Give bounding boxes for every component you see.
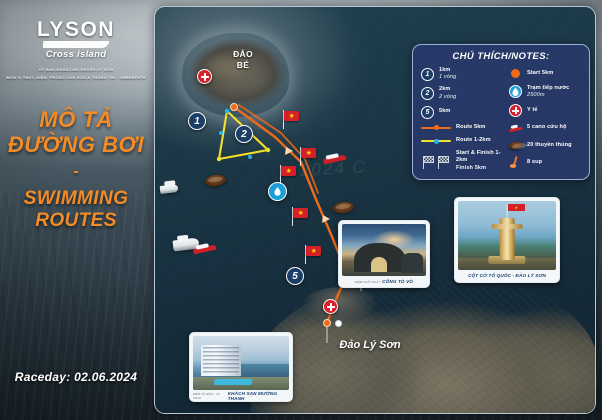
start-5km-dot (230, 103, 238, 111)
medical-cross-icon (327, 303, 335, 311)
medical-cross-icon (201, 73, 209, 81)
legend-left-5-sub: Finish 5km (456, 165, 503, 172)
buoy-icon (248, 155, 252, 159)
buoy-icon (266, 148, 270, 152)
caption-title: CỔNG TÒ VÒ (382, 279, 413, 284)
map-marker-2-label: 2 (241, 129, 247, 140)
marker-5-icon: 5 (421, 106, 434, 119)
photo-caption-khach-san-muong-thanh: ĐIỂM VỀ ĐÍCH - LỄ TRAO KHÁCH SẠN MƯỜNG T… (193, 390, 289, 401)
organizer-line-1: ỦY BAN NHÂN DÂN HUYỆN LÝ SƠN (0, 67, 152, 73)
legend-item-medical: Y tế (509, 104, 581, 117)
course-flag-icon: ★ (283, 110, 300, 129)
left-branding-column: LYSON Cross island ỦY BAN NHÂN DÂN HUYỆN… (0, 0, 152, 420)
buoy-icon (219, 131, 223, 135)
course-flag-icon: ★ (292, 207, 309, 226)
legend-left-2-label: 5km (439, 108, 451, 115)
map-marker-5-label: 5 (292, 271, 298, 282)
photo-cot-co-to-quoc: ★ (458, 201, 556, 270)
buoy-icon (217, 157, 221, 161)
legend-item-rescue-boats: 5 cano cứu hộ (509, 121, 581, 134)
legend-right-4-label: 20 thuyền thúng (527, 142, 572, 149)
photo-card-khach-san-muong-thanh[interactable]: ĐIỂM VỀ ĐÍCH - LỄ TRAO KHÁCH SẠN MƯỜNG T… (189, 332, 293, 402)
legend-right-3-label: 5 cano cứu hộ (527, 124, 567, 131)
legend-right-1-sub: 2500m (527, 92, 569, 99)
legend-left-4-label: Route 1-2km (456, 137, 491, 144)
caption-prefix: ĐIỂM XUẤT PHÁT (355, 280, 380, 284)
finish-marker-dot (335, 320, 342, 327)
legend-item-basket-boats: 20 thuyền thúng (509, 139, 581, 152)
checkered-flag-icon (421, 155, 451, 168)
marker-2-icon: 2 (421, 87, 434, 100)
logo-swoosh-icon (43, 41, 110, 48)
title-divider: - (0, 157, 152, 187)
photo-caption-cot-co-to-quoc: CỘT CỜ TỔ QUỐC - ĐẢO LÝ SƠN (458, 270, 556, 281)
legend-item-5km: 5 5km (421, 106, 503, 119)
route-1-2km-line-icon (421, 137, 451, 146)
map-marker-5[interactable]: 5 (286, 267, 304, 285)
rescue-boat-icon (509, 121, 522, 134)
satellite-map[interactable]: 2024 C ĐẢO BÉ Đảo Lý Sơn (155, 7, 595, 413)
medical-post-ly-son[interactable] (323, 299, 338, 314)
raceday-label: Raceday: 02.06.2024 (0, 370, 152, 384)
water-drop-icon (274, 187, 281, 196)
finish-5km-dot (323, 319, 331, 327)
title-line-2: ĐƯỜNG BƠI (0, 133, 152, 158)
photo-caption-cong-to-vo: ĐIỂM XUẤT PHÁT CỔNG TÒ VÒ (342, 276, 426, 287)
legend-item-start-finish: Start & Finish 1-2km Finish 5km (421, 150, 503, 172)
course-flag-icon: ★ (280, 165, 297, 184)
photo-khach-san-muong-thanh (193, 336, 289, 390)
legend-left-1-label: 2km (439, 86, 451, 92)
caption-title: KHÁCH SẠN MƯỜNG THANH (228, 391, 289, 401)
legend-left-5-label: Start & Finish 1-2km (456, 150, 501, 163)
logo-tagline: Cross island (0, 49, 152, 60)
title-line-4: ROUTES (0, 210, 152, 233)
page-title: MÔ TẢ ĐƯỜNG BƠI - SWIMMING ROUTES (0, 108, 152, 233)
sup-paddle-icon (509, 156, 522, 169)
map-marker-2[interactable]: 2 (235, 125, 253, 143)
start-dot-icon (509, 67, 522, 80)
photo-cong-to-vo (342, 224, 426, 276)
legend-right-0-label: Start 5km (527, 70, 553, 77)
legend-item-start-5km: Start 5km (509, 67, 581, 80)
legend-right-1-label: Trạm tiếp nước (527, 85, 569, 91)
marker-1-icon: 1 (421, 68, 434, 81)
legend-right-2-label: Y tế (527, 107, 538, 114)
organizer-line-2: ĐƠN VỊ THỰC HIỆN: PHÒNG VĂN HÓA & THÔNG … (0, 75, 152, 81)
legend-item-route-1-2km: Route 1-2km (421, 137, 503, 146)
legend-item-route-5km: Route 5km (421, 123, 503, 132)
medical-post-dao-be[interactable] (197, 69, 212, 84)
course-flag-icon: ★ (305, 245, 322, 264)
logo-wordmark: LYSON (0, 19, 152, 40)
photo-card-cong-to-vo[interactable]: ĐIỂM XUẤT PHÁT CỔNG TÒ VÒ (338, 220, 430, 288)
caption-title: CỘT CỜ TỔ QUỐC - ĐẢO LÝ SƠN (468, 273, 546, 278)
caption-prefix: ĐIỂM VỀ ĐÍCH - LỄ TRAO (193, 392, 226, 400)
legend-item-2km: 2 2km 2 vòng (421, 86, 503, 101)
legend-item-sup: 8 sup (509, 156, 581, 169)
legend-left-0-sub: 1 vòng (439, 74, 456, 81)
legend-left-0-label: 1km (439, 67, 451, 73)
route-5km-line-icon (421, 123, 451, 132)
legend-left-1-sub: 2 vòng (439, 94, 456, 101)
title-line-1: MÔ TẢ (0, 108, 152, 133)
legend-right-5-label: 8 sup (527, 159, 542, 166)
lyson-logo: LYSON Cross island ỦY BAN NHÂN DÂN HUYỆN… (0, 19, 152, 80)
legend-panel: CHÚ THÍCH/NOTES: 1 1km 1 vòng 2 2km (412, 44, 590, 180)
buoy-icon (225, 109, 229, 113)
water-station-marker[interactable] (268, 182, 287, 201)
map-marker-1-label: 1 (194, 116, 200, 127)
legend-item-water-station: Trạm tiếp nước 2500m (509, 85, 581, 100)
title-line-3: SWIMMING (0, 188, 152, 211)
map-marker-1[interactable]: 1 (188, 112, 206, 130)
map-panel[interactable]: 2024 C ĐẢO BÉ Đảo Lý Sơn (154, 6, 596, 414)
basket-boat-icon (509, 139, 522, 152)
legend-item-1km: 1 1km 1 vòng (421, 67, 503, 82)
medical-cross-icon (509, 104, 522, 117)
course-flag-icon: ★ (300, 147, 317, 166)
legend-column-left: 1 1km 1 vòng 2 2km 2 vòng (421, 67, 503, 177)
legend-title: CHÚ THÍCH/NOTES: (421, 51, 581, 62)
photo-card-cot-co-to-quoc[interactable]: ★ CỘT CỜ TỔ QUỐC - ĐẢO LÝ SƠN (454, 197, 560, 283)
legend-column-right: Start 5km Trạm tiếp nước 2500m Y tế (509, 67, 581, 177)
legend-left-3-label: Route 5km (456, 124, 486, 131)
water-drop-icon (509, 85, 522, 98)
